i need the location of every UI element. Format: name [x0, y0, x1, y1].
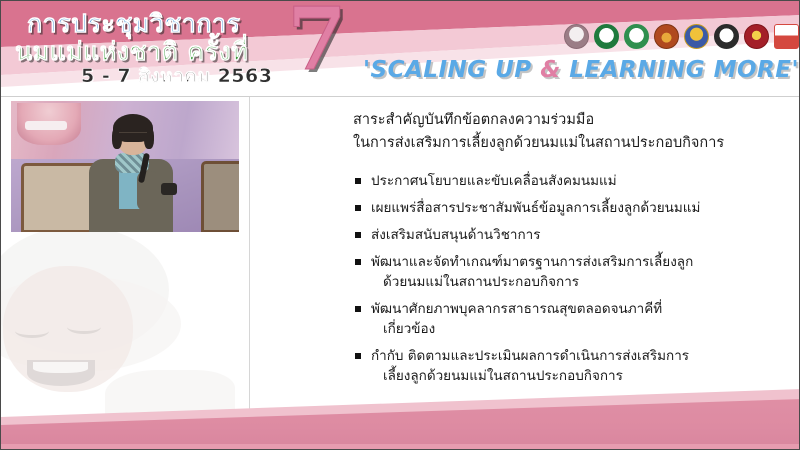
- bullet-text-secondary: ด้วยนมแม่ในสถานประกอบกิจการ: [371, 272, 773, 292]
- column-divider: [249, 97, 250, 415]
- list-item: กำกับ ติดตามและประเมินผลการดำเนินการส่งเ…: [353, 346, 773, 386]
- bullet-text-secondary: เลี้ยงลูกด้วยนมแม่ในสถานประกอบกิจการ: [371, 366, 773, 386]
- royal-patronage-emblem-icon: [564, 24, 589, 49]
- bullet-text-secondary: เกี่ยวข้อง: [371, 319, 773, 339]
- list-item: พัฒนาและจัดทำเกณฑ์มาตรฐานการส่งเสริมการเ…: [353, 252, 773, 292]
- conference-tagline: 'SCALING UP & LEARNING MORE': [363, 57, 799, 83]
- black-circular-institute-logo-icon: [714, 24, 739, 49]
- bullet-text-primary: ส่งเสริมสนับสนุนด้านวิชาการ: [371, 227, 540, 243]
- list-item: ประกาศนโยบายและขับเคลื่อนสังคมนมแม่: [353, 171, 773, 191]
- agreement-bullet-list: ประกาศนโยบายและขับเคลื่อนสังคมนมแม่ เผยแ…: [353, 171, 773, 386]
- royal-crest-emblem-icon: [654, 24, 679, 49]
- red-crest-emblem-icon: [744, 24, 769, 49]
- thai-breastfeeding-centre-logo-icon: [594, 24, 619, 49]
- speaker-remote-clicker: [161, 183, 177, 195]
- footer-bottom-strip: [1, 444, 800, 449]
- watermark-fade-overlay: [1, 232, 241, 422]
- bullet-text-primary: พัฒนาและจัดทำเกณฑ์มาตรฐานการส่งเสริมการเ…: [371, 254, 693, 270]
- bullet-text-primary: พัฒนาศักยภาพบุคลากรสาธารณสุขตลอดจนภาคีที…: [371, 301, 662, 317]
- partner-logo-strip: [564, 24, 799, 49]
- ministry-of-public-health-logo-icon: [624, 24, 649, 49]
- presentation-slide: การประชุมวิชาการ นมแม่แห่งชาติ ครั้งที่ …: [0, 0, 800, 450]
- bullet-text-primary: เผยแพร่สื่อสารประชาสัมพันธ์ข้อมูลการเลี้…: [371, 200, 700, 216]
- conference-date: 5 - 7 สิงหาคม 2563: [81, 61, 272, 91]
- content-heading-line1: สาระสำคัญบันทึกข้อตกลงความร่วมมือ: [353, 109, 773, 132]
- list-item: ส่งเสริมสนับสนุนด้านวิชาการ: [353, 225, 773, 245]
- header-divider-rule: [1, 96, 800, 97]
- bullet-text-primary: กำกับ ติดตามและประเมินผลการดำเนินการส่งเ…: [371, 348, 689, 364]
- speaker-video-feed[interactable]: [11, 101, 239, 232]
- tagline-part-close: LEARNING MORE': [561, 57, 799, 83]
- bullet-text-primary: ประกาศนโยบายและขับเคลื่อนสังคมนมแม่: [371, 173, 617, 189]
- backdrop-teeth-graphic: [25, 121, 67, 130]
- tagline-ampersand: &: [540, 57, 561, 83]
- tagline-part-open: 'SCALING UP: [363, 57, 540, 83]
- content-heading-line2: ในการส่งเสริมการเลี้ยงลูกด้วยนมแม่ในสถาน…: [353, 132, 773, 155]
- armchair-right: [201, 161, 239, 232]
- speaker-eyeglasses: [119, 132, 147, 139]
- edition-number-badge: 7: [287, 1, 347, 83]
- child-watermark-image: [1, 232, 241, 422]
- list-item: พัฒนาศักยภาพบุคลากรสาธารณสุขตลอดจนภาคีที…: [353, 299, 773, 339]
- slide-header: การประชุมวิชาการ นมแม่แห่งชาติ ครั้งที่ …: [1, 1, 800, 97]
- thai-garuda-emblem-icon: [684, 24, 709, 49]
- list-item: เผยแพร่สื่อสารประชาสัมพันธ์ข้อมูลการเลี้…: [353, 198, 773, 218]
- slide-body-content: สาระสำคัญบันทึกข้อตกลงความร่วมมือ ในการส…: [353, 109, 773, 393]
- thaihealth-sss-logo-icon: [774, 24, 799, 49]
